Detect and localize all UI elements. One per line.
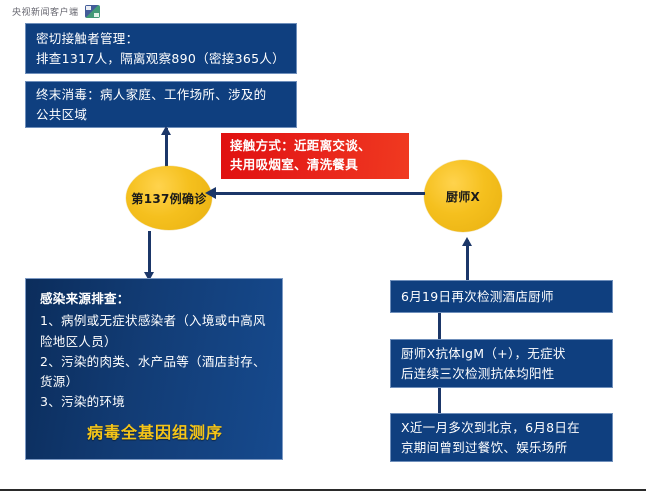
case-137-node: 第137例确诊: [126, 166, 212, 230]
contact-management-line-1: 密切接触者管理：: [36, 29, 286, 48]
antibody-result-line-1: 厨师X抗体IgM（+），无症状: [401, 344, 602, 363]
source-investigation-item-2-line-1: 2、污染的肉类、水产品等（酒店封存、: [40, 352, 270, 372]
genome-sequencing-highlight: 病毒全基因组测序: [40, 420, 270, 446]
contact-management-line-2: 排查1317人，隔离观察890（密接365人）: [36, 49, 286, 68]
source-investigation-item-2-line-2: 货源）: [40, 372, 270, 392]
cctv-news-app-logo-icon: [85, 5, 100, 18]
contact-mode-box: 接触方式：近距离交谈、 共用吸烟室、清洗餐具: [221, 133, 409, 179]
terminal-disinfection-line-2: 公共区域: [36, 105, 286, 124]
antibody-result-line-2: 后连续三次检测抗体均阳性: [401, 364, 602, 383]
contact-management-box: 密切接触者管理： 排查1317人，隔离观察890（密接365人）: [25, 23, 297, 74]
source-investigation-item-1-line-2: 险地区人员）: [40, 332, 270, 352]
arrow-left-chef-to-case-icon: [205, 187, 216, 199]
source-label: 央视新闻客户端: [12, 5, 79, 18]
travel-history-line-1: X近一月多次到北京，6月8日在: [401, 418, 602, 437]
retest-0619-box: 6月19日再次检测酒店厨师: [390, 280, 613, 313]
arrow-up-case-to-contact-management-icon: [161, 126, 171, 135]
source-investigation-header: 感染来源排查：: [40, 289, 270, 309]
terminal-disinfection-line-1: 终末消毒：病人家庭、工作场所、涉及的: [36, 85, 286, 104]
source-investigation-item-1-line-1: 1、病例或无症状感染者（入境或中高风: [40, 311, 270, 331]
contact-mode-line-1: 接触方式：近距离交谈、: [230, 137, 400, 156]
chef-x-label: 厨师X: [446, 188, 480, 205]
source-investigation-item-3: 3、污染的环境: [40, 392, 270, 412]
connector-chef-to-case: [213, 192, 425, 195]
source-attribution-bar: 央视新闻客户端: [0, 0, 646, 22]
travel-history-line-2: 京期间曾到过餐饮、娱乐场所: [401, 438, 602, 457]
arrow-up-retest-to-chef-icon: [462, 237, 472, 246]
connector-case-to-source-investigation: [148, 231, 151, 275]
travel-history-box: X近一月多次到北京，6月8日在 京期间曾到过餐饮、娱乐场所: [390, 413, 613, 462]
antibody-result-box: 厨师X抗体IgM（+），无症状 后连续三次检测抗体均阳性: [390, 339, 613, 388]
connector-retest-to-chef: [466, 240, 469, 280]
contact-mode-line-2: 共用吸烟室、清洗餐具: [230, 156, 400, 175]
terminal-disinfection-box: 终末消毒：病人家庭、工作场所、涉及的 公共区域: [25, 81, 297, 128]
retest-0619-line-1: 6月19日再次检测酒店厨师: [401, 287, 602, 306]
chef-x-node: 厨师X: [424, 160, 502, 232]
case-137-label: 第137例确诊: [131, 190, 206, 207]
infographic-canvas: 央视新闻客户端 密切接触者管理： 排查1317人，隔离观察890（密接365人）…: [0, 0, 646, 491]
connector-travel-to-antibody: [438, 388, 441, 413]
connector-antibody-to-retest: [438, 313, 441, 339]
source-investigation-box: 感染来源排查： 1、病例或无症状感染者（入境或中高风 险地区人员） 2、污染的肉…: [25, 278, 283, 460]
